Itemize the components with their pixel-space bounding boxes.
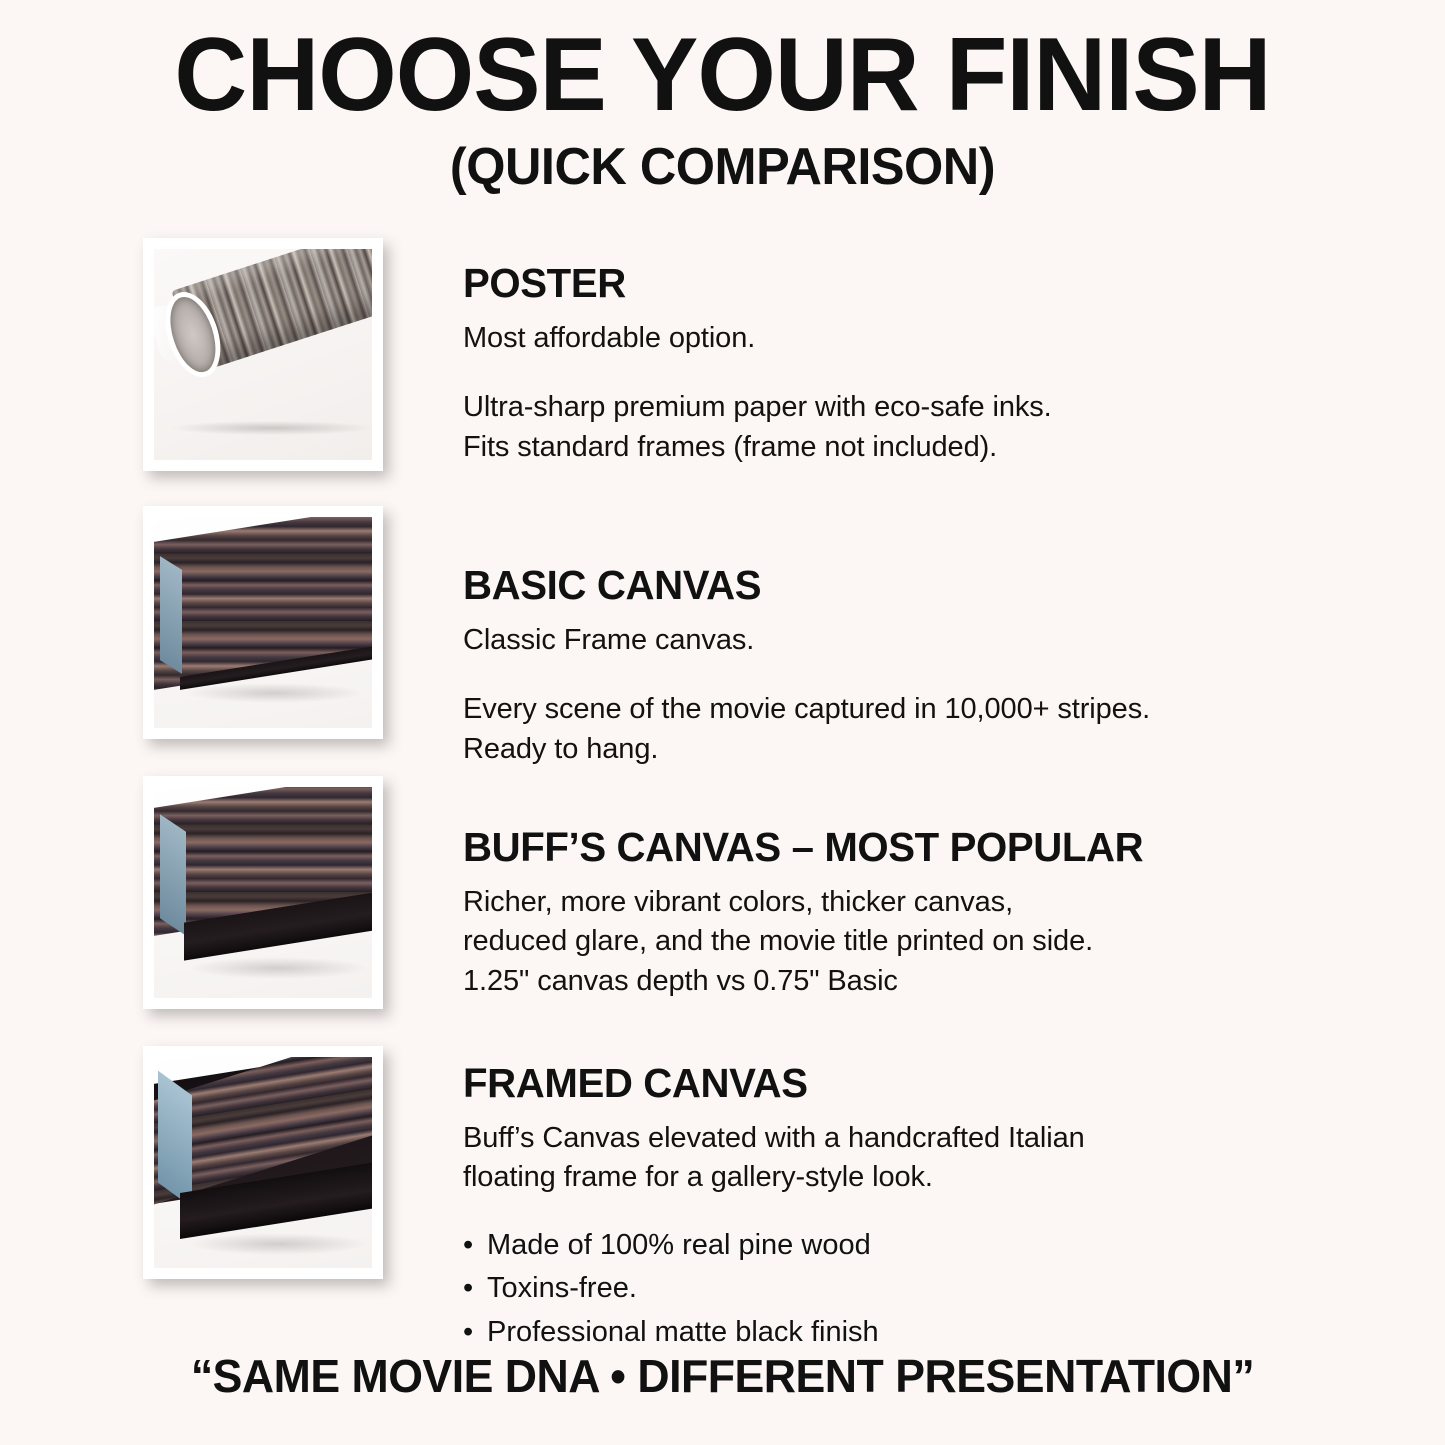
basic-canvas-thumbnail[interactable]: [143, 506, 383, 739]
page-subtitle: (QUICK COMPARISON): [22, 140, 1424, 195]
comparison-row-framed-canvas: FRAMED CANVAS Buff’s Canvas elevated wit…: [0, 1046, 1445, 1326]
basic-canvas-text-block: BASIC CANVAS Classic Frame canvas. Every…: [463, 506, 1445, 769]
framed-canvas-feature-list: • Made of 100% real pine wood • Toxins-f…: [463, 1224, 1405, 1355]
poster-detail-line-2: Fits standard frames (frame not included…: [463, 428, 1405, 467]
basic-canvas-left-edge: [160, 556, 182, 674]
poster-text-block: POSTER Most affordable option. Ultra-sha…: [463, 238, 1445, 467]
framed-canvas-detail-line-2: floating frame for a gallery-style look.: [463, 1158, 1405, 1197]
buffs-canvas-detail-line-2: reduced glare, and the movie title print…: [463, 922, 1405, 961]
list-item-label: Toxins-free.: [487, 1272, 637, 1304]
buffs-canvas-heading: BUFF’S CANVAS – MOST POPULAR: [463, 826, 1386, 869]
framed-canvas-image: [154, 1057, 372, 1268]
footer-tagline: “SAME MOVIE DNA • DIFFERENT PRESENTATION…: [22, 1349, 1424, 1403]
buffs-canvas-detail-line-3: 1.25" canvas depth vs 0.75" Basic: [463, 962, 1405, 1001]
list-item-label: Professional matte black finish: [487, 1316, 879, 1348]
buffs-canvas-text-block: BUFF’S CANVAS – MOST POPULAR Richer, mor…: [463, 776, 1445, 1001]
framed-canvas-shadow: [188, 1233, 368, 1255]
poster-roll-image: [154, 249, 372, 460]
list-item: • Toxins-free.: [463, 1267, 1405, 1311]
list-item: • Professional matte black finish: [463, 1311, 1405, 1355]
buffs-canvas-left-edge: [160, 814, 186, 936]
basic-canvas-image: [154, 517, 372, 728]
framed-canvas-scene: [154, 1057, 372, 1268]
rolled-poster-icon: [154, 249, 372, 381]
infographic-page: CHOOSE YOUR FINISH (QUICK COMPARISON): [0, 0, 1445, 1445]
bullet-dot-icon: •: [463, 1311, 473, 1355]
comparison-row-basic-canvas: BASIC CANVAS Classic Frame canvas. Every…: [0, 506, 1445, 776]
bullet-dot-icon: •: [463, 1267, 473, 1311]
framed-canvas-detail-line-1: Buff’s Canvas elevated with a handcrafte…: [463, 1119, 1405, 1158]
buffs-canvas-thumbnail[interactable]: [143, 776, 383, 1009]
buffs-canvas-shadow: [188, 957, 368, 979]
basic-canvas-lead: Classic Frame canvas.: [463, 621, 1405, 660]
comparison-row-poster: POSTER Most affordable option. Ultra-sha…: [0, 238, 1445, 506]
buffs-canvas-image: [154, 787, 372, 998]
poster-detail-line-1: Ultra-sharp premium paper with eco-safe …: [463, 388, 1405, 427]
basic-canvas-heading: BASIC CANVAS: [463, 564, 1386, 607]
poster-roll-thumbnail[interactable]: [143, 238, 383, 471]
poster-lead: Most affordable option.: [463, 319, 1405, 358]
comparison-list: POSTER Most affordable option. Ultra-sha…: [0, 238, 1445, 1326]
poster-shadow: [172, 421, 372, 435]
poster-scene: [154, 249, 372, 460]
header: CHOOSE YOUR FINISH (QUICK COMPARISON): [0, 0, 1445, 195]
framed-canvas-heading: FRAMED CANVAS: [463, 1062, 1386, 1105]
list-item-label: Made of 100% real pine wood: [487, 1229, 871, 1261]
framed-canvas-left-edge: [158, 1071, 192, 1208]
comparison-row-buffs-canvas: BUFF’S CANVAS – MOST POPULAR Richer, mor…: [0, 776, 1445, 1046]
buffs-canvas-detail-line-1: Richer, more vibrant colors, thicker can…: [463, 883, 1405, 922]
basic-canvas-shadow: [184, 683, 364, 703]
bullet-dot-icon: •: [463, 1224, 473, 1268]
basic-canvas-scene: [154, 517, 372, 728]
list-item: • Made of 100% real pine wood: [463, 1224, 1405, 1268]
poster-heading: POSTER: [463, 262, 1386, 305]
framed-canvas-thumbnail[interactable]: [143, 1046, 383, 1279]
page-title: CHOOSE YOUR FINISH: [22, 22, 1424, 128]
basic-canvas-detail-line-1: Every scene of the movie captured in 10,…: [463, 690, 1405, 729]
framed-canvas-text-block: FRAMED CANVAS Buff’s Canvas elevated wit…: [463, 1046, 1445, 1354]
buffs-canvas-scene: [154, 787, 372, 998]
basic-canvas-detail-line-2: Ready to hang.: [463, 730, 1405, 769]
